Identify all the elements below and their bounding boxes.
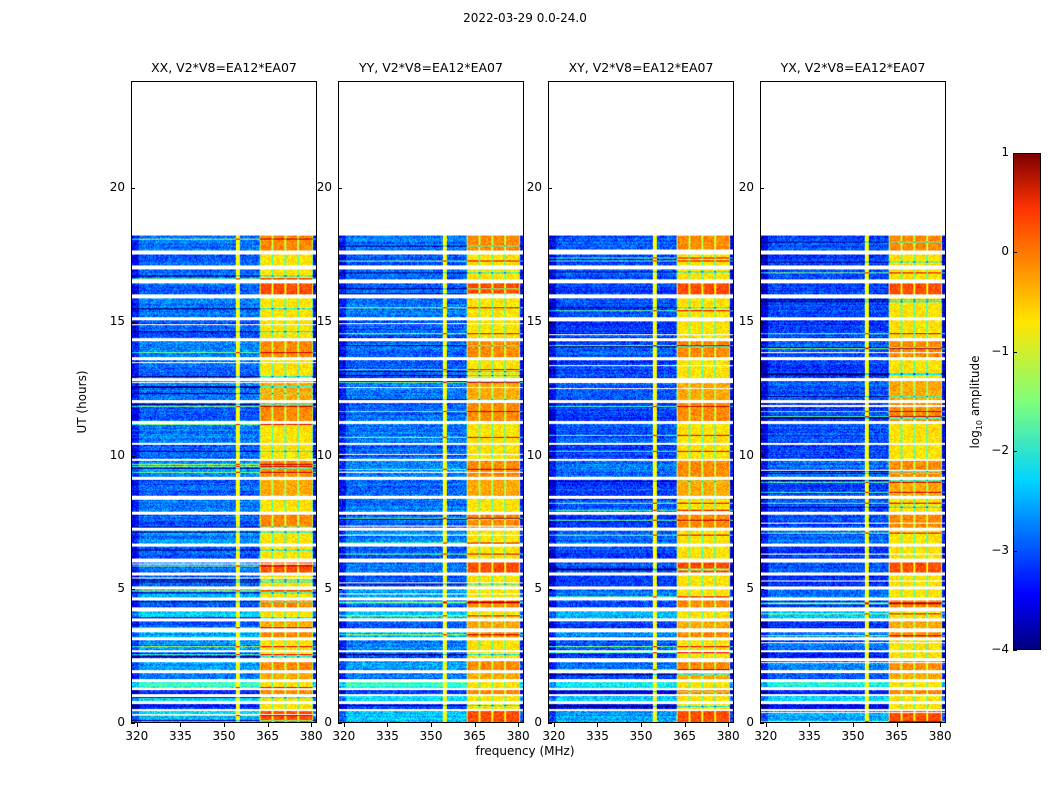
y-tick-label: 0 bbox=[85, 715, 125, 729]
colorbar-tick-label: 1 bbox=[975, 145, 1009, 159]
y-tick-label: 20 bbox=[85, 180, 125, 194]
x-tick-mark bbox=[685, 723, 686, 727]
y-tick-mark bbox=[338, 456, 342, 457]
x-tick-mark bbox=[809, 723, 810, 727]
x-tick-mark bbox=[268, 723, 269, 727]
colorbar-tick-label: −4 bbox=[975, 642, 1009, 656]
y-tick-label: 0 bbox=[502, 715, 542, 729]
x-tick-label: 335 bbox=[160, 729, 200, 743]
x-tick-label: 365 bbox=[665, 729, 705, 743]
colorbar-tick-mark bbox=[1013, 252, 1017, 253]
x-tick-mark bbox=[766, 723, 767, 727]
y-tick-mark bbox=[760, 456, 764, 457]
y-tick-label: 5 bbox=[502, 581, 542, 595]
y-tick-mark bbox=[760, 723, 764, 724]
y-tick-label: 5 bbox=[714, 581, 754, 595]
x-axis-label: frequency (MHz) bbox=[0, 744, 1050, 758]
waterfall-panel-xx[interactable] bbox=[131, 81, 317, 723]
colorbar-tick-mark bbox=[1013, 451, 1017, 452]
x-tick-label: 320 bbox=[117, 729, 157, 743]
x-tick-label: 350 bbox=[833, 729, 873, 743]
colorbar-label-rest: amplitude bbox=[968, 356, 982, 420]
x-tick-label: 380 bbox=[498, 729, 538, 743]
y-tick-mark bbox=[131, 322, 135, 323]
figure-suptitle: 2022-03-29 0.0-24.0 bbox=[0, 11, 1050, 25]
panel-title-xy: XY, V2*V8=EA12*EA07 bbox=[548, 60, 734, 78]
y-tick-mark bbox=[760, 188, 764, 189]
x-tick-label: 335 bbox=[789, 729, 829, 743]
y-tick-label: 20 bbox=[502, 180, 542, 194]
y-tick-mark bbox=[131, 723, 135, 724]
colorbar-tick-mark bbox=[1013, 650, 1017, 651]
y-tick-mark bbox=[131, 188, 135, 189]
y-tick-label: 20 bbox=[292, 180, 332, 194]
x-tick-mark bbox=[137, 723, 138, 727]
x-tick-label: 380 bbox=[708, 729, 748, 743]
x-tick-mark bbox=[597, 723, 598, 727]
y-tick-mark bbox=[548, 188, 552, 189]
x-tick-mark bbox=[897, 723, 898, 727]
y-axis-label: UT (hours) bbox=[75, 370, 89, 433]
x-tick-mark bbox=[853, 723, 854, 727]
x-tick-label: 365 bbox=[877, 729, 917, 743]
colorbar-tick-mark bbox=[1013, 153, 1017, 154]
panel-title-yy: YY, V2*V8=EA12*EA07 bbox=[338, 60, 524, 78]
x-tick-mark bbox=[387, 723, 388, 727]
y-tick-label: 0 bbox=[714, 715, 754, 729]
waterfall-image-xy bbox=[549, 82, 733, 722]
y-tick-label: 15 bbox=[502, 314, 542, 328]
x-tick-label: 380 bbox=[291, 729, 331, 743]
x-tick-label: 380 bbox=[920, 729, 960, 743]
y-tick-label: 10 bbox=[502, 448, 542, 462]
x-tick-label: 320 bbox=[746, 729, 786, 743]
waterfall-figure: 2022-03-29 0.0-24.0 XX, V2*V8=EA12*EA07 … bbox=[0, 0, 1050, 800]
y-tick-mark bbox=[548, 456, 552, 457]
y-tick-mark bbox=[760, 322, 764, 323]
x-tick-label: 350 bbox=[204, 729, 244, 743]
waterfall-image-yx bbox=[761, 82, 945, 722]
colorbar-label-base: log bbox=[968, 430, 982, 448]
x-tick-label: 335 bbox=[577, 729, 617, 743]
x-tick-mark bbox=[554, 723, 555, 727]
x-tick-mark bbox=[728, 723, 729, 727]
waterfall-panel-yx[interactable] bbox=[760, 81, 946, 723]
x-tick-mark bbox=[311, 723, 312, 727]
y-tick-mark bbox=[548, 723, 552, 724]
colorbar-tick-mark bbox=[1013, 551, 1017, 552]
y-tick-label: 15 bbox=[85, 314, 125, 328]
waterfall-image-xx bbox=[132, 82, 316, 722]
x-tick-label: 365 bbox=[455, 729, 495, 743]
x-tick-mark bbox=[641, 723, 642, 727]
colorbar[interactable] bbox=[1013, 153, 1041, 650]
x-tick-label: 320 bbox=[534, 729, 574, 743]
colorbar-gradient bbox=[1014, 154, 1040, 649]
y-tick-label: 15 bbox=[292, 314, 332, 328]
y-tick-mark bbox=[760, 589, 764, 590]
x-tick-label: 350 bbox=[621, 729, 661, 743]
x-tick-mark bbox=[518, 723, 519, 727]
x-tick-mark bbox=[940, 723, 941, 727]
panel-title-xx: XX, V2*V8=EA12*EA07 bbox=[131, 60, 317, 78]
x-tick-label: 335 bbox=[367, 729, 407, 743]
waterfall-panel-yy[interactable] bbox=[338, 81, 524, 723]
y-tick-mark bbox=[131, 456, 135, 457]
waterfall-image-yy bbox=[339, 82, 523, 722]
x-tick-mark bbox=[224, 723, 225, 727]
x-tick-mark bbox=[475, 723, 476, 727]
y-tick-mark bbox=[338, 188, 342, 189]
y-tick-mark bbox=[131, 589, 135, 590]
y-tick-mark bbox=[548, 589, 552, 590]
y-tick-label: 20 bbox=[714, 180, 754, 194]
y-tick-label: 10 bbox=[714, 448, 754, 462]
x-tick-label: 350 bbox=[411, 729, 451, 743]
y-tick-label: 15 bbox=[714, 314, 754, 328]
waterfall-panel-xy[interactable] bbox=[548, 81, 734, 723]
y-tick-label: 10 bbox=[85, 448, 125, 462]
x-tick-label: 365 bbox=[248, 729, 288, 743]
colorbar-tick-mark bbox=[1013, 352, 1017, 353]
x-tick-mark bbox=[431, 723, 432, 727]
y-tick-mark bbox=[338, 589, 342, 590]
colorbar-tick-label: −3 bbox=[975, 543, 1009, 557]
y-tick-label: 10 bbox=[292, 448, 332, 462]
x-tick-mark bbox=[344, 723, 345, 727]
x-tick-mark bbox=[180, 723, 181, 727]
y-tick-label: 0 bbox=[292, 715, 332, 729]
colorbar-label: log10 amplitude bbox=[968, 356, 984, 449]
y-tick-mark bbox=[338, 723, 342, 724]
y-tick-mark bbox=[338, 322, 342, 323]
y-tick-label: 5 bbox=[85, 581, 125, 595]
colorbar-label-sub: 10 bbox=[975, 420, 984, 430]
colorbar-tick-label: 0 bbox=[975, 244, 1009, 258]
y-tick-label: 5 bbox=[292, 581, 332, 595]
y-tick-mark bbox=[548, 322, 552, 323]
panel-title-yx: YX, V2*V8=EA12*EA07 bbox=[760, 60, 946, 78]
